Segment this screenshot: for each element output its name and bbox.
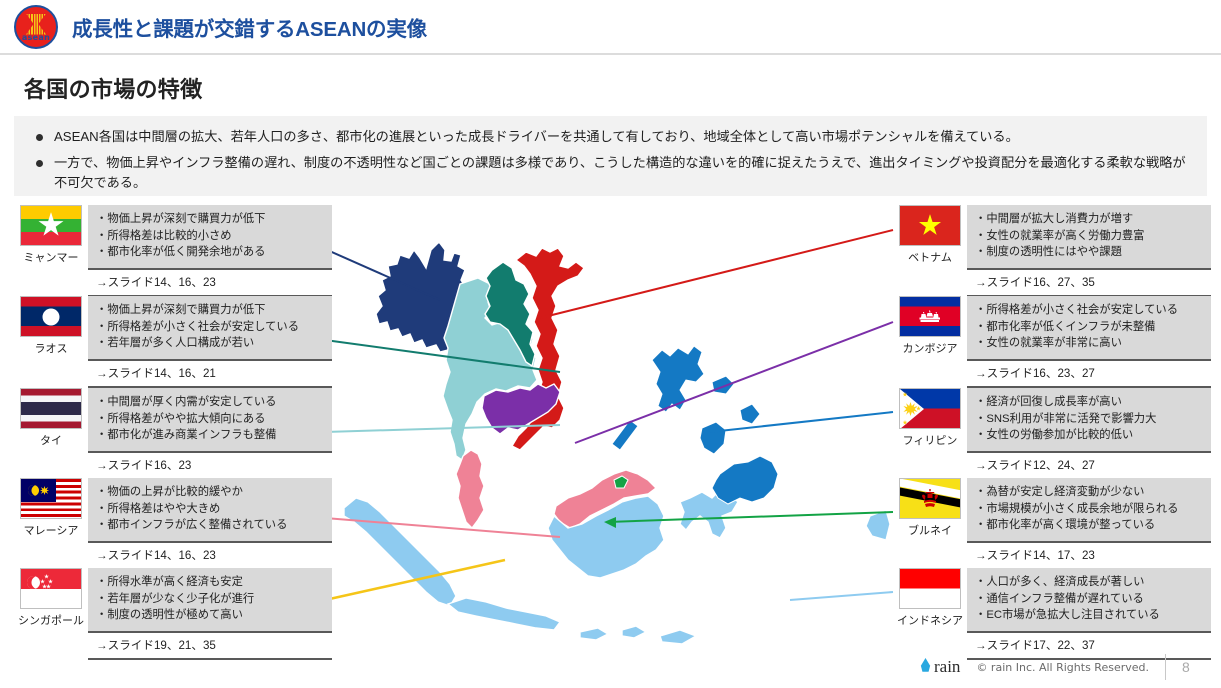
- flag-singapore-icon: [20, 568, 82, 609]
- list-item: 通信インフラ整備が遅れている: [975, 591, 1203, 608]
- country-card-brunei[interactable]: ブルネイ 為替が安定し経済変動が少ない 市場規模が小さく成長余地が限られる 都市…: [893, 478, 1211, 570]
- country-name: シンガポール: [18, 612, 84, 628]
- flag-column: フィリピン: [893, 388, 967, 448]
- map-country-philippines-mindanao: [712, 456, 778, 504]
- list-item: 若年層が少なく少子化が進行: [96, 591, 324, 608]
- country-name: インドネシア: [897, 612, 963, 628]
- list-item: 所得格差がやや拡大傾向にある: [96, 411, 324, 428]
- flag-vietnam-icon: [899, 205, 961, 246]
- slide-reference[interactable]: →スライド14、16、23: [88, 270, 332, 297]
- list-item: 所得格差が小さく社会が安定している: [975, 302, 1203, 319]
- list-item: 若年層が多く人口構成が若い: [96, 335, 324, 352]
- flag-brunei-icon: [899, 478, 961, 519]
- list-item: 市場規模が小さく成長余地が限られる: [975, 501, 1203, 518]
- flag-laos-icon: [20, 296, 82, 337]
- map-country-philippines-palawan: [612, 420, 638, 450]
- card-body: 中間層が厚く内需が安定している 所得格差がやや拡大傾向にある 都市化が進み商業イ…: [88, 388, 332, 480]
- map-country-indonesia-sunda3: [660, 630, 696, 644]
- slide-reference[interactable]: →スライド16、23: [88, 453, 332, 480]
- country-name: ブルネイ: [908, 522, 952, 538]
- map-svg: [330, 198, 890, 668]
- list-item: 物価上昇が深刻で購買力が低下: [96, 211, 324, 228]
- slide-header: asean 成長性と課題が交錯するASEANの実像: [0, 0, 1221, 55]
- list-item: 都市化率が低くインフラが未整備: [975, 319, 1203, 336]
- slide-reference[interactable]: →スライド14、17、23: [967, 543, 1211, 570]
- feature-list: 人口が多く、経済成長が著しい 通信インフラ整備が遅れている EC市場が急拡大し注…: [967, 568, 1211, 633]
- bullet-dot-icon: [36, 160, 43, 167]
- country-card-indonesia[interactable]: インドネシア 人口が多く、経済成長が著しい 通信インフラ整備が遅れている EC市…: [893, 568, 1211, 660]
- list-item: EC市場が急拡大し注目されている: [975, 607, 1203, 624]
- country-name: ラオス: [35, 340, 68, 356]
- slide-reference[interactable]: →スライド16、27、35: [967, 270, 1211, 297]
- footer-divider: [1165, 654, 1166, 680]
- feature-list: 物価上昇が深刻で購買力が低下 所得格差が小さく社会が安定している 若年層が多く人…: [88, 296, 332, 361]
- angkor-wat-icon: [918, 310, 942, 323]
- card-body: 経済が回復し成長率が高い SNS利用が非常に活発で影響力大 女性の労働参加が比較…: [967, 388, 1211, 480]
- list-item: 中間層が厚く内需が安定している: [96, 394, 324, 411]
- list-item: 人口が多く、経済成長が著しい: [975, 574, 1203, 591]
- list-item: 所得格差は比較的小さめ: [96, 228, 324, 245]
- list-item: 中間層が拡大し消費力が増す: [975, 211, 1203, 228]
- card-body: 所得水準が高く経済も安定 若年層が少なく少子化が進行 制度の透明性が極めて高い …: [88, 568, 332, 660]
- flag-column: ミャンマー: [14, 205, 88, 265]
- country-card-myanmar[interactable]: ミャンマー 物価上昇が深刻で購買力が低下 所得格差は比較的小さめ 都市化率が低く…: [14, 205, 332, 297]
- slide-reference[interactable]: →スライド14、16、21: [88, 361, 332, 388]
- map-country-indonesia-sunda: [580, 628, 608, 640]
- list-item: 所得水準が高く経済も安定: [96, 574, 324, 591]
- flag-column: インドネシア: [893, 568, 967, 628]
- flag-column: シンガポール: [14, 568, 88, 628]
- page-title: 各国の市場の特徴: [24, 72, 202, 104]
- list-item: 都市化率が高く環境が整っている: [975, 517, 1203, 534]
- map-country-philippines-leyte: [740, 404, 760, 424]
- card-body: 物価上昇が深刻で購買力が低下 所得格差は比較的小さめ 都市化率が低く開発余地があ…: [88, 205, 332, 297]
- flag-malaysia-icon: [20, 478, 82, 519]
- summary-text: ASEAN各国は中間層の拡大、若年人口の多さ、都市化の進展といった成長ドライバー…: [54, 127, 1019, 147]
- list-item: 都市化率が低く開発余地がある: [96, 244, 324, 261]
- slide-reference[interactable]: →スライド14、16、23: [88, 543, 332, 570]
- map-country-indonesia-papua: [866, 510, 890, 540]
- list-item: 女性の就業率が高く労働力豊富: [975, 228, 1203, 245]
- brunei-crest-icon: [919, 489, 941, 509]
- flag-column: タイ: [14, 388, 88, 448]
- summary-item: ASEAN各国は中間層の拡大、若年人口の多さ、都市化の進展といった成長ドライバー…: [28, 127, 1193, 147]
- list-item: 制度の透明性にはやや課題: [975, 244, 1203, 261]
- map-country-philippines-visayas: [700, 422, 726, 454]
- country-name: カンボジア: [903, 340, 958, 356]
- map-country-indonesia-java: [448, 598, 560, 630]
- rain-brand-text: rain: [934, 657, 960, 676]
- summary-panel: ASEAN各国は中間層の拡大、若年人口の多さ、都市化の進展といった成長ドライバー…: [14, 116, 1207, 196]
- country-card-malaysia[interactable]: マレーシア 物価の上昇が比較的緩やか 所得格差はやや大きめ 都市インフラが広く整…: [14, 478, 332, 570]
- flag-thailand-icon: [20, 388, 82, 429]
- map-country-indonesia-sunda2: [622, 626, 646, 638]
- feature-list: 所得水準が高く経済も安定 若年層が少なく少子化が進行 制度の透明性が極めて高い: [88, 568, 332, 633]
- map-country-malaysia-peninsula: [456, 450, 484, 528]
- slide-footer: rain © rain Inc. All Rights Reserved. 8: [920, 652, 1210, 682]
- list-item: 制度の透明性が極めて高い: [96, 607, 324, 624]
- flag-column: マレーシア: [14, 478, 88, 538]
- card-body: 人口が多く、経済成長が著しい 通信インフラ整備が遅れている EC市場が急拡大し注…: [967, 568, 1211, 660]
- feature-list: 所得格差が小さく社会が安定している 都市化率が低くインフラが未整備 女性の就業率…: [967, 296, 1211, 361]
- flag-cambodia-icon: [899, 296, 961, 337]
- country-card-laos[interactable]: ラオス 物価上昇が深刻で購買力が低下 所得格差が小さく社会が安定している 若年層…: [14, 296, 332, 388]
- feature-list: 物価の上昇が比較的緩やか 所得格差はやや大きめ 都市インフラが広く整備されている: [88, 478, 332, 543]
- copyright-text: © rain Inc. All Rights Reserved.: [976, 661, 1149, 674]
- country-card-philippines[interactable]: フィリピン 経済が回復し成長率が高い SNS利用が非常に活発で影響力大 女性の労…: [893, 388, 1211, 480]
- list-item: 女性の就業率が非常に高い: [975, 335, 1203, 352]
- country-name: ベトナム: [908, 249, 952, 265]
- list-item: 為替が安定し経済変動が少ない: [975, 484, 1203, 501]
- rain-logo: rain: [920, 657, 960, 677]
- list-item: 経済が回復し成長率が高い: [975, 394, 1203, 411]
- feature-list: 物価上昇が深刻で購買力が低下 所得格差は比較的小さめ 都市化率が低く開発余地があ…: [88, 205, 332, 270]
- feature-list: 中間層が拡大し消費力が増す 女性の就業率が高く労働力豊富 制度の透明性にはやや課…: [967, 205, 1211, 270]
- southeast-asia-map: [330, 198, 890, 668]
- flag-philippines-icon: [899, 388, 961, 429]
- slide-reference[interactable]: →スライド19、21、35: [88, 633, 332, 660]
- country-card-cambodia[interactable]: カンボジア 所得格差が小さく社会が安定している 都市化率が低くインフラが未整備 …: [893, 296, 1211, 388]
- country-name: タイ: [40, 432, 62, 448]
- feature-list: 経済が回復し成長率が高い SNS利用が非常に活発で影響力大 女性の労働参加が比較…: [967, 388, 1211, 453]
- country-card-thailand[interactable]: タイ 中間層が厚く内需が安定している 所得格差がやや拡大傾向にある 都市化が進み…: [14, 388, 332, 480]
- list-item: 都市インフラが広く整備されている: [96, 517, 324, 534]
- map-country-philippines-luzon: [652, 346, 704, 412]
- list-item: SNS利用が非常に活発で影響力大: [975, 411, 1203, 428]
- flag-column: カンボジア: [893, 296, 967, 356]
- page-number: 8: [1182, 659, 1190, 675]
- map-country-philippines-mindoro: [712, 376, 734, 394]
- map-country-indonesia-sumatra: [344, 498, 456, 606]
- country-card-singapore[interactable]: シンガポール 所得水準が高く経済も安定 若年層が少なく少子化が進行 制度の透明性…: [14, 568, 332, 660]
- header-title: 成長性と課題が交錯するASEANの実像: [72, 12, 427, 42]
- card-body: 為替が安定し経済変動が少ない 市場規模が小さく成長余地が限られる 都市化率が高く…: [967, 478, 1211, 570]
- list-item: 所得格差はやや大きめ: [96, 501, 324, 518]
- slide-reference[interactable]: →スライド16、23、27: [967, 361, 1211, 388]
- water-drop-icon: [920, 658, 931, 673]
- flag-column: ラオス: [14, 296, 88, 356]
- list-item: 女性の労働参加が比較的低い: [975, 427, 1203, 444]
- slide-root: asean 成長性と課題が交錯するASEANの実像 各国の市場の特徴 ASEAN…: [0, 0, 1221, 688]
- slide-reference[interactable]: →スライド12、24、27: [967, 453, 1211, 480]
- card-body: 物価上昇が深刻で購買力が低下 所得格差が小さく社会が安定している 若年層が多く人…: [88, 296, 332, 388]
- card-body: 物価の上昇が比較的緩やか 所得格差はやや大きめ 都市インフラが広く整備されている…: [88, 478, 332, 570]
- card-body: 所得格差が小さく社会が安定している 都市化率が低くインフラが未整備 女性の就業率…: [967, 296, 1211, 388]
- country-name: マレーシア: [24, 522, 79, 538]
- bullet-dot-icon: [36, 134, 43, 141]
- country-name: ミャンマー: [24, 249, 79, 265]
- list-item: 物価の上昇が比較的緩やか: [96, 484, 324, 501]
- feature-list: 為替が安定し経済変動が少ない 市場規模が小さく成長余地が限られる 都市化率が高く…: [967, 478, 1211, 543]
- asean-logo-word: asean: [16, 33, 56, 42]
- card-body: 中間層が拡大し消費力が増す 女性の就業率が高く労働力豊富 制度の透明性にはやや課…: [967, 205, 1211, 297]
- country-name: フィリピン: [903, 432, 958, 448]
- flag-indonesia-icon: [899, 568, 961, 609]
- flag-column: ベトナム: [893, 205, 967, 265]
- asean-sheaf-shape: [26, 14, 46, 35]
- feature-list: 中間層が厚く内需が安定している 所得格差がやや拡大傾向にある 都市化が進み商業イ…: [88, 388, 332, 453]
- list-item: 所得格差が小さく社会が安定している: [96, 319, 324, 336]
- list-item: 物価上昇が深刻で購買力が低下: [96, 302, 324, 319]
- country-card-vietnam[interactable]: ベトナム 中間層が拡大し消費力が増す 女性の就業率が高く労働力豊富 制度の透明性…: [893, 205, 1211, 297]
- summary-text: 一方で、物価上昇やインフラ整備の遅れ、制度の不透明性など国ごとの課題は多様であり…: [54, 153, 1193, 193]
- flag-myanmar-icon: [20, 205, 82, 246]
- flag-column: ブルネイ: [893, 478, 967, 538]
- asean-emblem-icon: asean: [14, 5, 58, 49]
- list-item: 都市化が進み商業インフラも整備: [96, 427, 324, 444]
- summary-item: 一方で、物価上昇やインフラ整備の遅れ、制度の不透明性など国ごとの課題は多様であり…: [28, 153, 1193, 193]
